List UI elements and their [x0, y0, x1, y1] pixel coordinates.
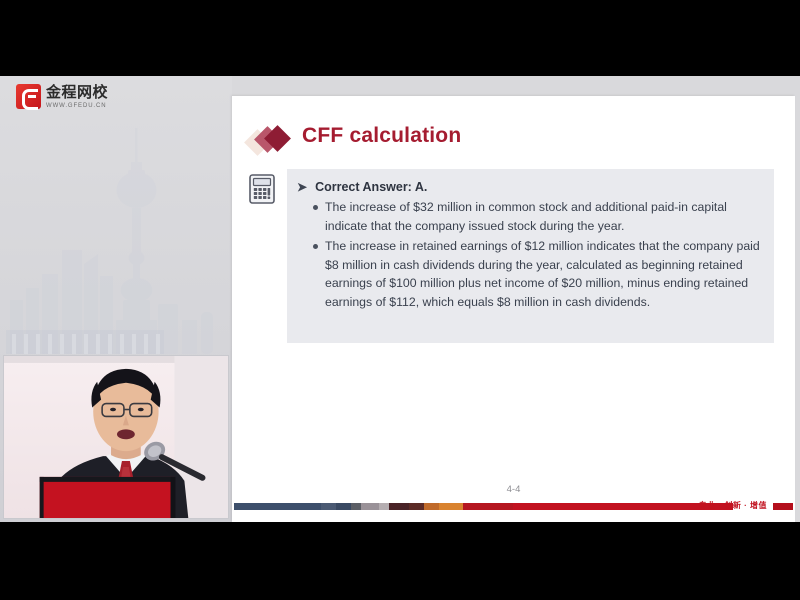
- left-panel: 金程网校 WWW.GFEDU.CN: [0, 76, 232, 522]
- player-stage: 金程网校 WWW.GFEDU.CN: [0, 0, 800, 600]
- presentation-slide: CFF calculation: [232, 96, 795, 522]
- slide-title-row: CFF calculation: [246, 124, 461, 148]
- color-bar-segment-1: [321, 503, 336, 510]
- color-bar-segment-10: [463, 503, 513, 510]
- correct-answer-label: Correct Answer: A.: [315, 179, 427, 196]
- color-bar-segment-8: [424, 503, 439, 510]
- list-item: The increase in retained earnings of $12…: [313, 237, 760, 311]
- slide-footer: 4-4 专业 · 创新 · 增值: [232, 484, 795, 512]
- color-bar-segment-0: [234, 503, 321, 510]
- letterbox-bottom: [0, 522, 800, 600]
- page-title: CFF calculation: [302, 124, 461, 148]
- gfedu-logo-mark-icon: [16, 84, 41, 109]
- color-bar-segment-6: [389, 503, 409, 510]
- brand-logo-text: 金程网校 WWW.GFEDU.CN: [46, 85, 108, 109]
- video-frame: 金程网校 WWW.GFEDU.CN: [0, 76, 800, 522]
- letterbox-top: [0, 0, 800, 76]
- footer-color-bar: [234, 503, 733, 510]
- color-bar-segment-4: [361, 503, 378, 510]
- color-bar-segment-2: [336, 503, 351, 510]
- bullet-text: The increase of $32 million in common st…: [325, 198, 760, 235]
- bullet-dot-icon: [313, 205, 318, 210]
- brand-slogan: 专业 · 创新 · 增值: [699, 500, 767, 511]
- answer-content-box: ➤ Correct Answer: A. The increase of $32…: [287, 169, 774, 343]
- calculator-icon: [249, 174, 275, 204]
- arrow-bullet-icon: ➤: [297, 179, 307, 196]
- correct-answer-line: ➤ Correct Answer: A.: [297, 179, 760, 196]
- shanghai-skyline-watermark-icon: [6, 124, 232, 354]
- page-number: 4-4: [232, 484, 795, 495]
- brand-logo: 金程网校 WWW.GFEDU.CN: [16, 84, 108, 109]
- brand-name-cn: 金程网校: [46, 85, 108, 100]
- color-bar-segment-7: [409, 503, 424, 510]
- presenter-video[interactable]: [3, 355, 229, 519]
- presenter-image: [4, 356, 228, 519]
- bullet-dot-icon: [313, 244, 318, 249]
- brand-url: WWW.GFEDU.CN: [46, 103, 108, 109]
- bullet-text: The increase in retained earnings of $12…: [325, 237, 760, 311]
- color-bar-segment-9: [439, 503, 464, 510]
- slogan-end-cap-icon: [773, 503, 793, 510]
- color-bar-segment-3: [351, 503, 361, 510]
- list-item: The increase of $32 million in common st…: [313, 198, 760, 235]
- color-bar-segment-5: [379, 503, 389, 510]
